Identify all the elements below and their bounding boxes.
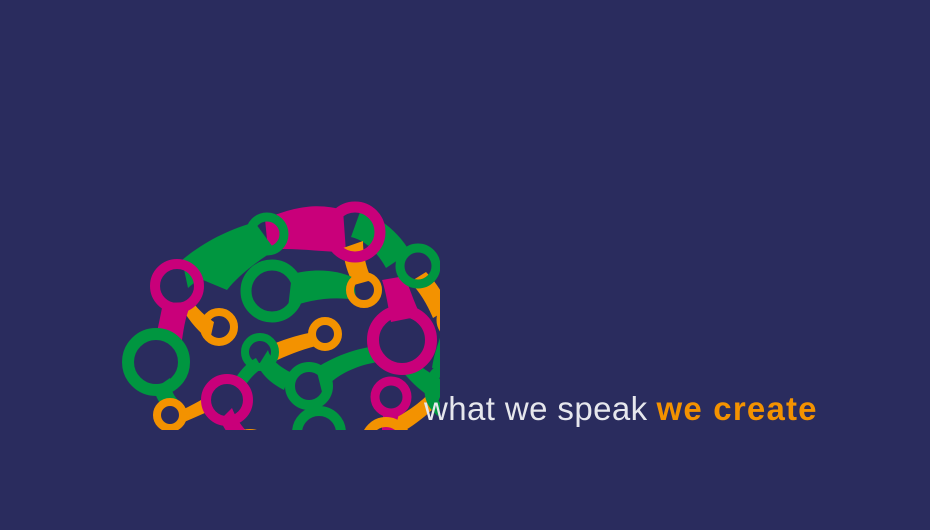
logo-canvas: what we speakwe create [0, 0, 930, 530]
node-n17 [157, 402, 183, 428]
brain-network-logo [60, 100, 440, 430]
tagline: what we speakwe create [424, 389, 818, 429]
node-n16 [375, 381, 407, 413]
node-n11 [245, 337, 275, 367]
node-n12 [128, 334, 184, 390]
tagline-light-text: what we speak [424, 390, 648, 427]
node-n20 [297, 411, 341, 430]
tagline-accent-text: we create [657, 390, 818, 427]
node-n9 [312, 321, 338, 347]
node-n5 [155, 264, 199, 308]
